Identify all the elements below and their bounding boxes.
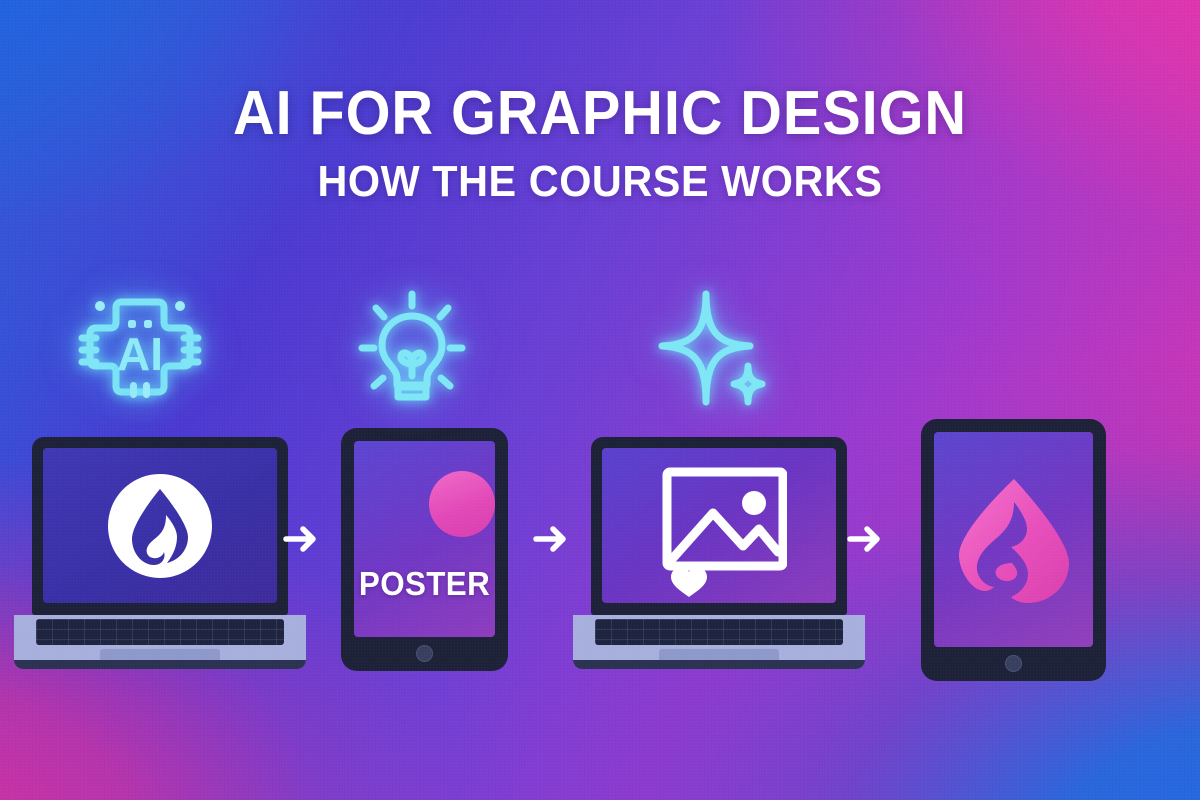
page-subtitle: HOW THE COURSE WORKS xyxy=(36,159,1164,205)
step-2-tablet[interactable]: POSTER xyxy=(341,428,508,671)
step-3-laptop[interactable] xyxy=(573,437,865,669)
poster-accent-circle xyxy=(429,471,495,537)
arrow-step-3-to-4 xyxy=(845,521,885,557)
step-1-screen[interactable] xyxy=(43,448,277,603)
step-3-trackpad xyxy=(659,649,779,662)
step-1-keyboard xyxy=(36,619,284,645)
step-3-laptop-lid xyxy=(591,437,847,615)
step-4-tablet[interactable] xyxy=(921,419,1106,681)
image-placeholder-icon xyxy=(602,448,836,603)
step-2-home-button[interactable] xyxy=(416,645,433,662)
arrow-step-1-to-2 xyxy=(281,521,321,557)
step-4-home-button[interactable] xyxy=(1005,655,1022,672)
step-3-laptop-base xyxy=(573,615,865,669)
step-4-tablet-body xyxy=(921,419,1106,681)
step-3-screen[interactable] xyxy=(602,448,836,603)
poster-label: POSTER xyxy=(358,565,492,603)
heading-block: AI FOR GRAPHIC DESIGN HOW THE COURSE WOR… xyxy=(0,82,1200,205)
step-2-screen[interactable]: POSTER xyxy=(354,441,495,637)
droplet-logo-pink-icon xyxy=(934,432,1093,647)
step-1-laptop-lid xyxy=(32,437,288,615)
arrow-step-2-to-3 xyxy=(531,521,571,557)
step-3-keyboard xyxy=(595,619,843,645)
step-4-screen[interactable] xyxy=(934,432,1093,647)
step-2-tablet-body: POSTER xyxy=(341,428,508,671)
step-1-laptop-base xyxy=(14,615,306,669)
droplet-logo-white-icon xyxy=(43,448,277,603)
step-1-laptop[interactable] xyxy=(14,437,306,669)
page-title: AI FOR GRAPHIC DESIGN xyxy=(42,82,1158,145)
poster-canvas: AI FOR GRAPHIC DESIGN HOW THE COURSE WOR… xyxy=(0,0,1200,800)
step-1-trackpad xyxy=(100,649,220,662)
